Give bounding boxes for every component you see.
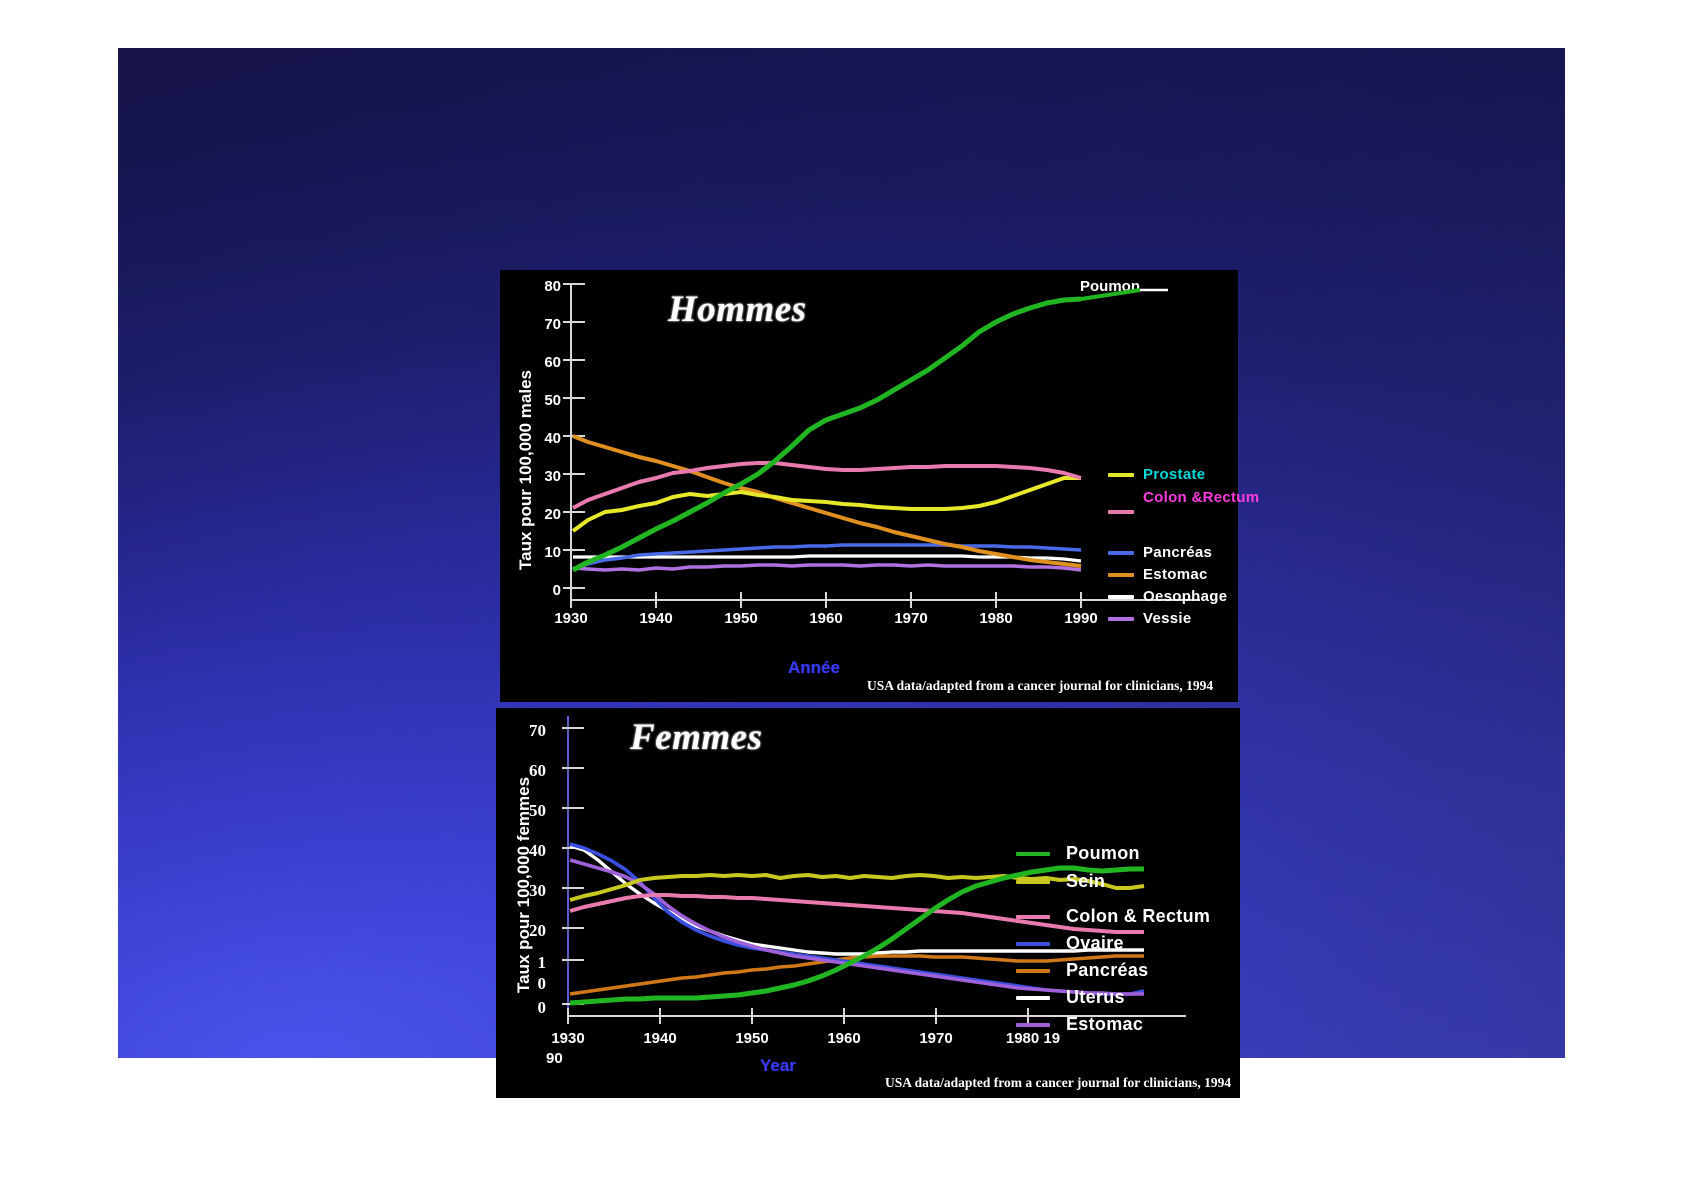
legend-swatch-oesophage xyxy=(1108,595,1134,599)
legend-label-sein: Sein xyxy=(1066,871,1105,892)
legend-label-colon-rectum: Colon & Rectum xyxy=(1066,906,1210,927)
legend-label-pancreas: Pancréas xyxy=(1143,544,1212,561)
legend-swatch-uterus xyxy=(1016,996,1050,1000)
legend-label-pancreas: Pancréas xyxy=(1066,960,1148,981)
legend-swatch-vessie xyxy=(1108,617,1134,621)
legend-item-colon-rectum[interactable]: Colon &Rectum xyxy=(1108,489,1259,506)
legend-label-estomac: Estomac xyxy=(1066,1014,1143,1035)
chart-panel-hommes: Hommes Taux pour 100,000 males Année USA… xyxy=(500,270,1238,702)
legend-label-vessie: Vessie xyxy=(1143,610,1192,627)
legend-label-prostate: Prostate xyxy=(1143,466,1205,483)
chart-svg-hommes xyxy=(500,270,1238,702)
legend-item-pancreas[interactable]: Pancréas xyxy=(1108,544,1212,561)
legend-swatch-prostate xyxy=(1108,473,1134,477)
legend-swatch-pancreas xyxy=(1108,551,1134,555)
legend-item-estomac[interactable]: Estomac xyxy=(1108,566,1208,583)
legend-swatch-colon-rectum xyxy=(1108,510,1134,514)
legend-label-poumon: Poumon xyxy=(1066,843,1140,864)
legend-item-pancreas[interactable]: Pancréas xyxy=(1016,960,1148,981)
legend-item-colon-rectum[interactable]: Colon & Rectum xyxy=(1016,906,1210,927)
legend-item-sein[interactable]: Sein xyxy=(1016,871,1105,892)
legend-label-ovaire: Ovaire xyxy=(1066,933,1124,954)
slide-background: Hommes Taux pour 100,000 males Année USA… xyxy=(118,48,1565,1058)
legend-item-ovaire[interactable]: Ovaire xyxy=(1016,933,1124,954)
legend-item-vessie[interactable]: Vessie xyxy=(1108,610,1192,627)
legend-label-estomac: Estomac xyxy=(1143,566,1208,583)
legend-label-colon-rectum: Colon &Rectum xyxy=(1143,489,1259,506)
legend-swatch-estomac xyxy=(1016,1023,1050,1027)
legend-item-prostate[interactable]: Prostate xyxy=(1108,466,1205,483)
legend-swatch-sein xyxy=(1016,880,1050,884)
legend-swatch-estomac xyxy=(1108,573,1134,577)
legend-swatch-ovaire xyxy=(1016,942,1050,946)
chart-panel-femmes: Femmes Taux pour 100,000 femmes Year USA… xyxy=(496,708,1240,1098)
legend-label-oesophage: Oesophage xyxy=(1143,588,1227,605)
legend-swatch-pancreas xyxy=(1016,969,1050,973)
legend-swatch-poumon xyxy=(1016,852,1050,856)
legend-label-uterus: Uterus xyxy=(1066,987,1125,1008)
legend-item-oesophage[interactable]: Oesophage xyxy=(1108,588,1227,605)
legend-swatch-colon-rectum xyxy=(1016,915,1050,919)
legend-item-poumon[interactable]: Poumon xyxy=(1016,843,1140,864)
chart-svg-femmes xyxy=(496,708,1240,1098)
legend-item-estomac[interactable]: Estomac xyxy=(1016,1014,1143,1035)
legend-item-uterus[interactable]: Uterus xyxy=(1016,987,1125,1008)
